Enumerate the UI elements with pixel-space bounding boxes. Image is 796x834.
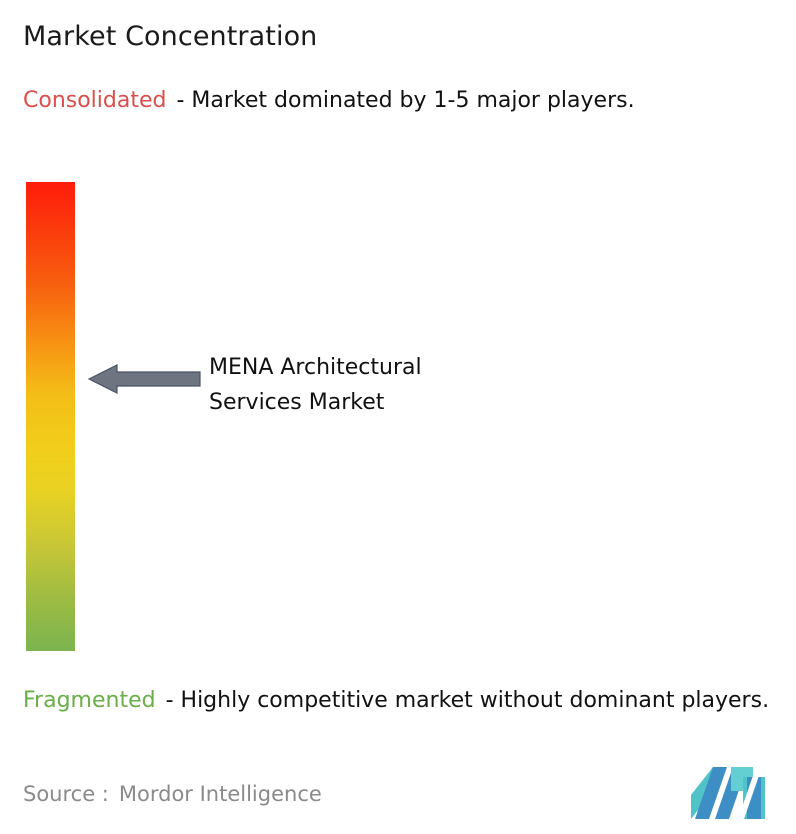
page-title: Market Concentration: [23, 20, 317, 54]
caption-fragmented-description: - Highly competitive market without domi…: [166, 688, 769, 713]
caption-consolidated: Consolidated- Market dominated by 1-5 ma…: [23, 85, 763, 116]
mordor-intelligence-logo-icon: [691, 767, 765, 819]
market-concentration-chart: Market Concentration Consolidated- Marke…: [0, 0, 796, 834]
marker-label: MENA Architectural Services Market: [209, 350, 539, 420]
marker-label-line-1: MENA Architectural: [209, 350, 539, 385]
pointer-arrow-left-icon: [88, 362, 201, 396]
source-attribution: Source :Mordor Intelligence: [23, 780, 322, 808]
source-label: Source :: [23, 782, 109, 806]
caption-consolidated-keyword: Consolidated: [23, 88, 166, 113]
caption-fragmented: Fragmented- Highly competitive market wi…: [23, 685, 791, 716]
concentration-gradient-bar: [26, 182, 75, 651]
source-value: Mordor Intelligence: [119, 782, 322, 806]
marker-label-line-2: Services Market: [209, 385, 539, 420]
caption-consolidated-description: - Market dominated by 1-5 major players.: [176, 88, 634, 113]
caption-fragmented-keyword: Fragmented: [23, 688, 156, 713]
